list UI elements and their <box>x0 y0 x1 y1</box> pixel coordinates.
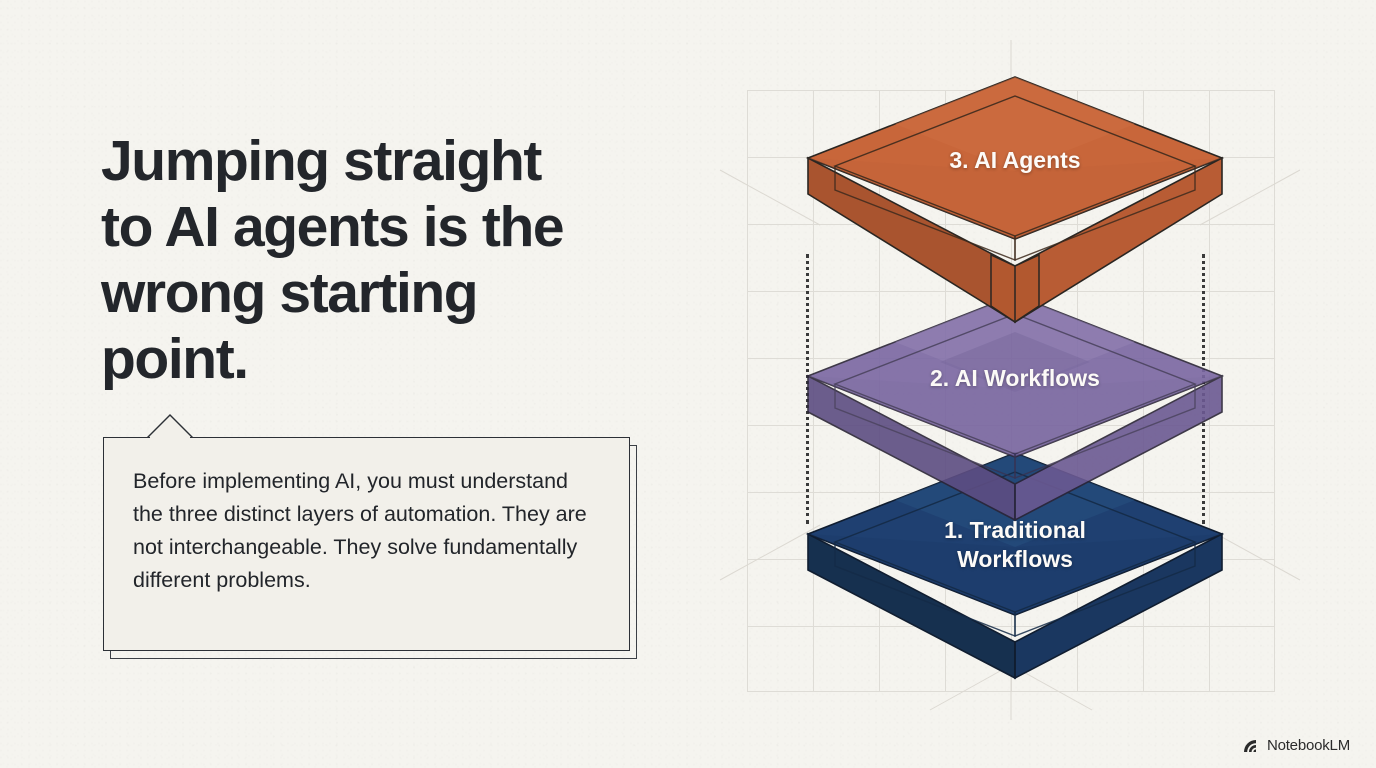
slide-canvas: Jumping straight to AI agents is the wro… <box>0 0 1376 768</box>
layer-slab-ai-agents[interactable]: 3. AI Agents <box>805 74 1225 324</box>
page-title: Jumping straight to AI agents is the wro… <box>101 128 661 392</box>
callout-text: Before implementing AI, you must underst… <box>133 465 603 597</box>
notebooklm-watermark: NotebookLM <box>1243 737 1350 754</box>
callout-tail-seam <box>150 436 190 440</box>
layer-slab-ai-workflows[interactable]: 2. AI Workflows <box>805 292 1225 522</box>
layer-stack-diagram: 1. Traditional Workflows 2. AI Workflows <box>700 20 1360 720</box>
notebooklm-spiral-icon <box>1243 739 1260 753</box>
callout-box: Before implementing AI, you must underst… <box>103 437 630 659</box>
callout-tail-fill <box>149 416 191 437</box>
watermark-label: NotebookLM <box>1267 737 1350 754</box>
